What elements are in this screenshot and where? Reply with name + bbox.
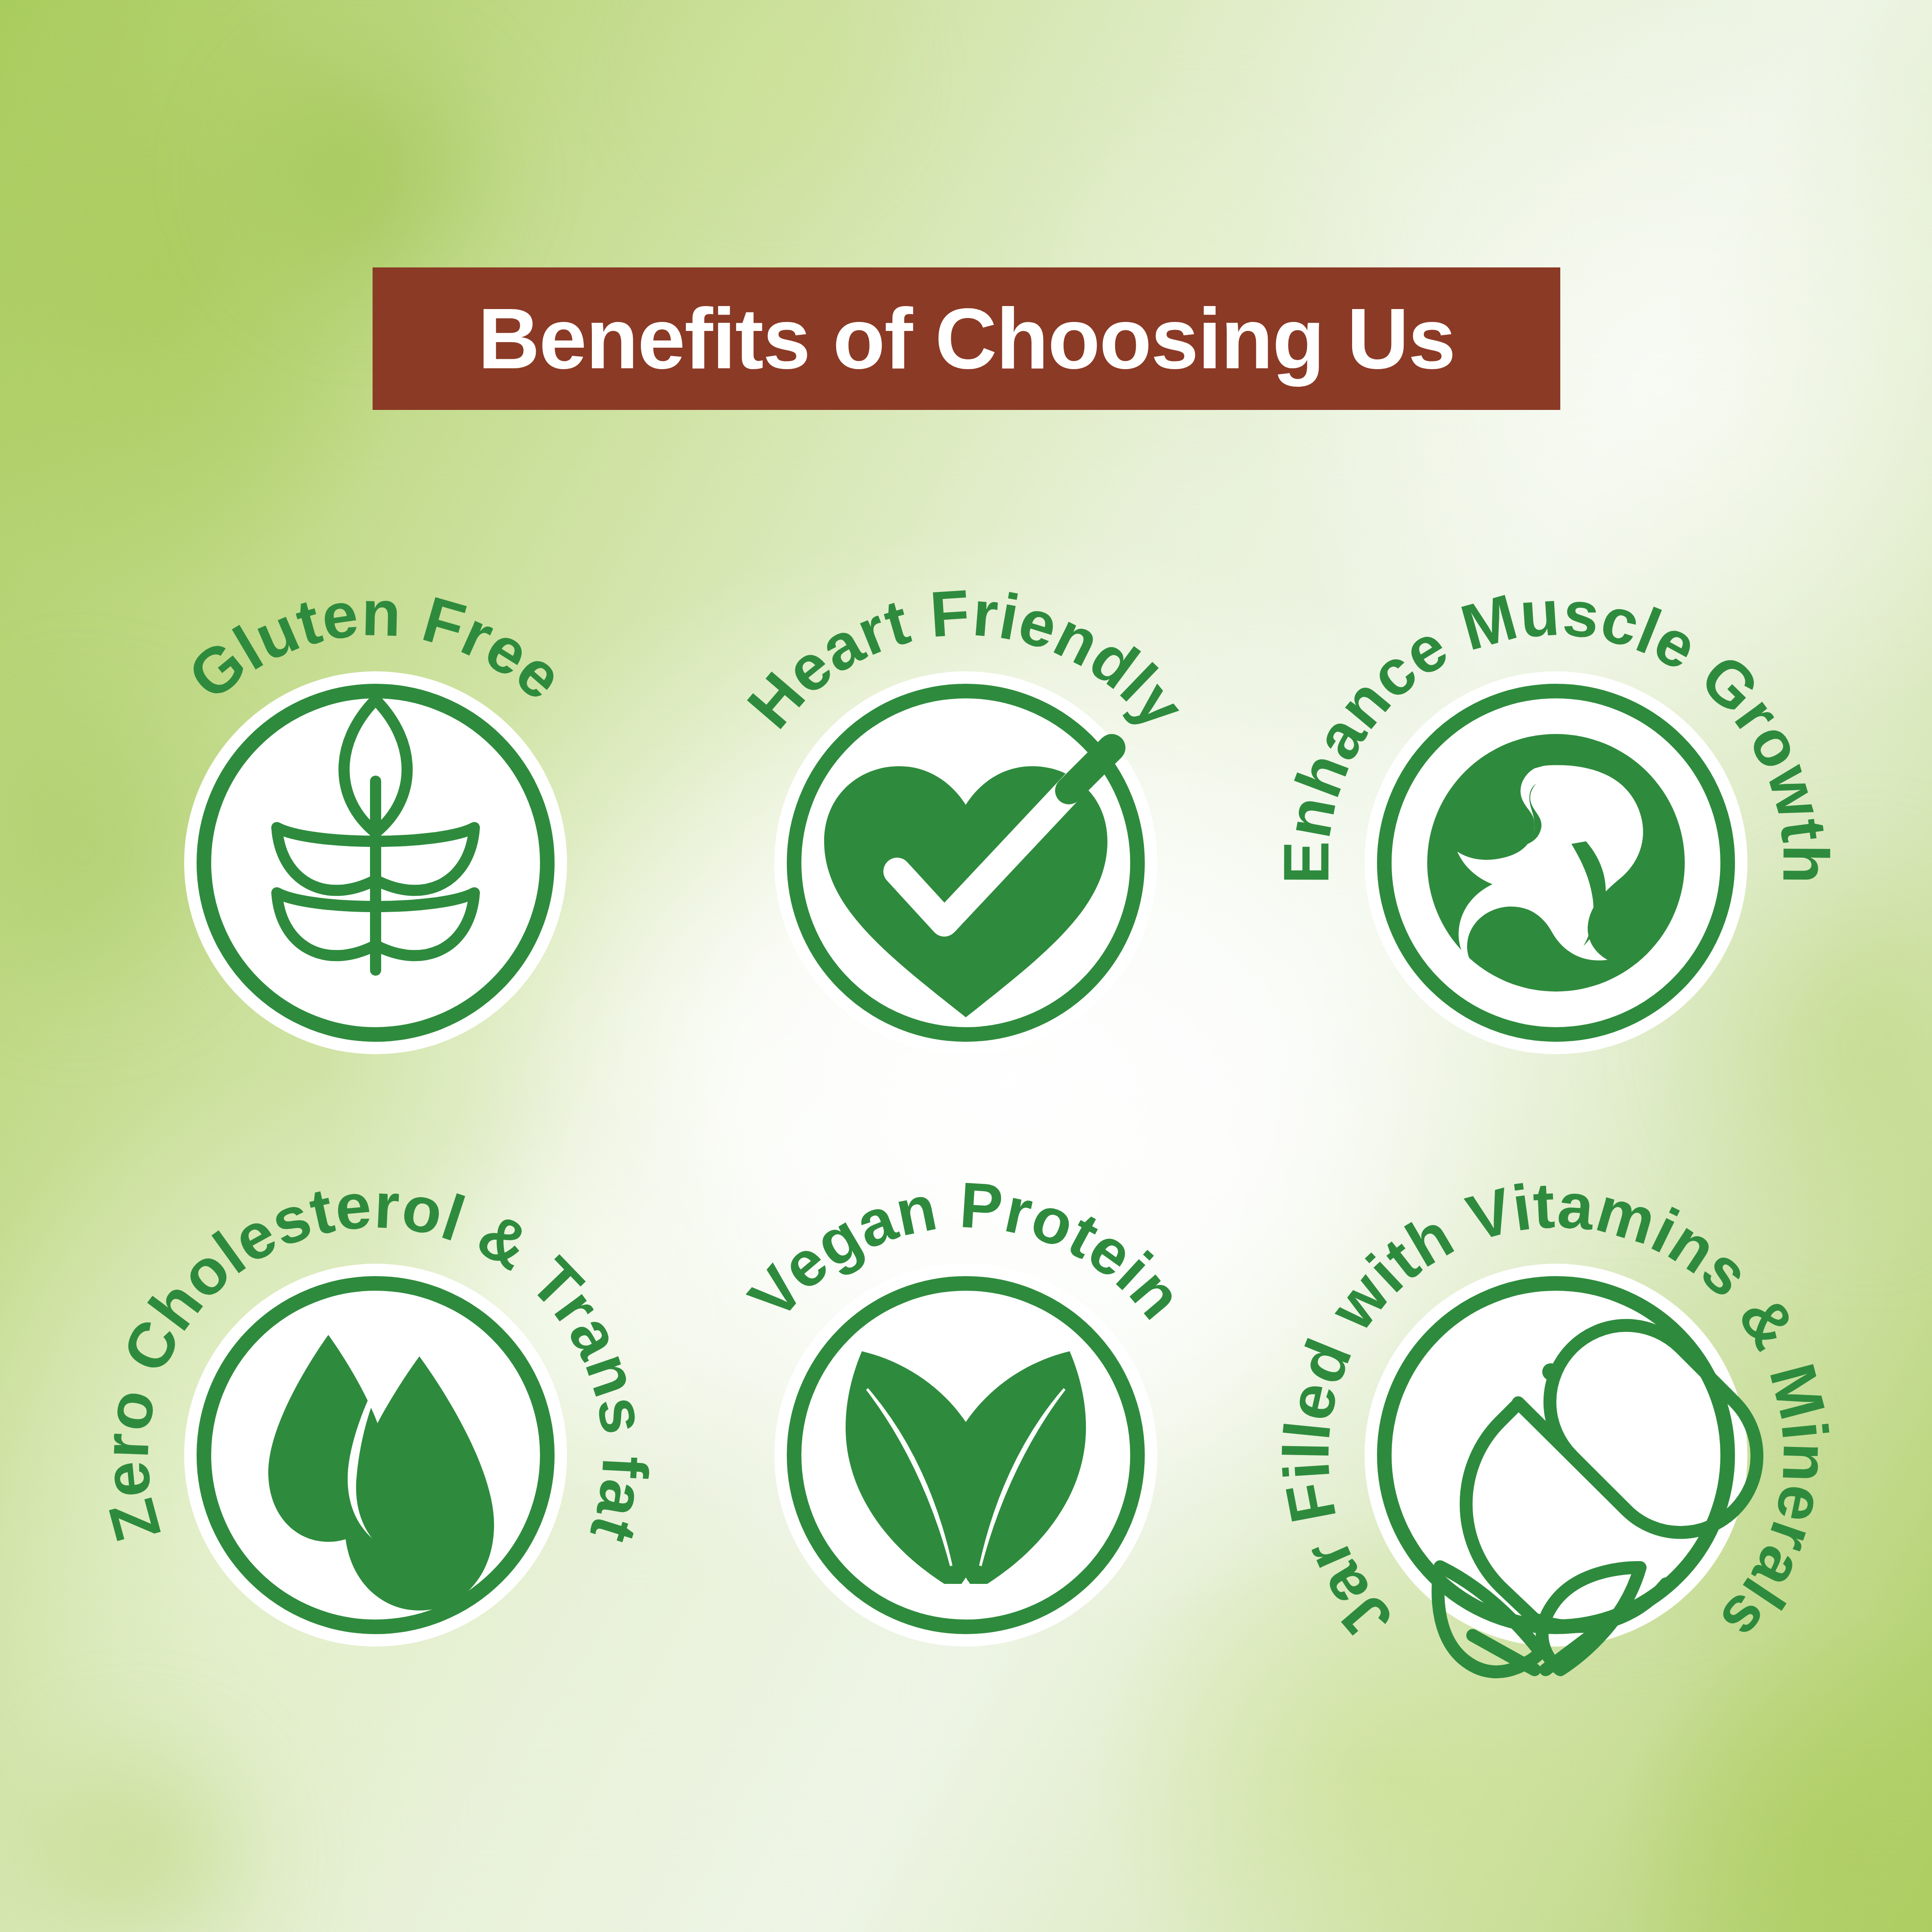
benefit-badge-vegan-protein: Vegan Protein (644, 1133, 1288, 1777)
benefit-badge-zero-cholesterol-trans-fat: Zero Cholesterol & Trans fat (54, 1133, 698, 1777)
benefit-badge-gluten-free: Gluten Free (54, 541, 698, 1185)
title-banner: Benefits of Choosing Us (373, 267, 1560, 410)
flexed-bicep-icon (1427, 734, 1685, 992)
benefit-badge-heart-friendly: Heart Friendly (644, 541, 1288, 1185)
page-title: Benefits of Choosing Us (478, 296, 1455, 382)
badge-face (1365, 1264, 1747, 1647)
benefit-badge-enhance-muscle-growth: Enhance Muscle Growth (1234, 541, 1878, 1185)
benefit-badge-jar-filled-with-vitamins-minerals: Jar Filled with Vitamins & Minerals (1234, 1133, 1878, 1777)
